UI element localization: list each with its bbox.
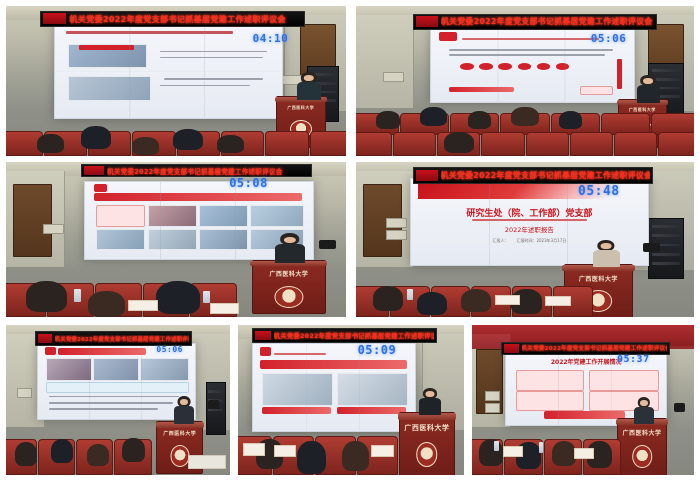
slide-emblem-icon [45, 347, 57, 355]
name-card [495, 295, 521, 305]
audience-member [15, 442, 37, 466]
led-banner-text: 机关党委2022年度党支部书记抓基层党建工作述职评议会 [274, 331, 434, 340]
slide-photo [250, 205, 303, 227]
slide-title-underline [472, 219, 588, 221]
water-bottle [539, 442, 543, 453]
podium-university-name: 广西医科大学 [402, 423, 452, 433]
slide-body-line [49, 396, 179, 398]
slide-side-bar [617, 59, 623, 89]
audience-member [122, 438, 144, 462]
water-bottle [74, 289, 81, 301]
countdown-timer: 05:09 [358, 343, 397, 357]
countdown-timer: 04:10 [253, 32, 289, 45]
audience-member [87, 444, 109, 467]
name-card [371, 445, 393, 458]
party-emblem-icon [416, 170, 437, 181]
audience-member [420, 107, 447, 127]
audience-seat [614, 132, 657, 156]
audience-member [26, 281, 67, 312]
wall-vent [17, 388, 31, 398]
wall-vent [386, 230, 407, 240]
speaker [634, 397, 654, 424]
camera-icon [208, 400, 219, 409]
audience-member [511, 107, 538, 127]
name-card [210, 303, 239, 314]
photo-panel-bottom-right: 2022年党建工作开展情况 机关党委2022年度党支部书记抓基层党建工作述职评议… [472, 325, 694, 475]
slide-body-line [160, 51, 267, 53]
speaker-face [601, 243, 612, 249]
projection-screen [54, 24, 284, 119]
party-emblem-icon [416, 16, 437, 27]
university-emblem-icon [170, 445, 189, 466]
wall-vent [386, 218, 407, 228]
slide-text-block [96, 205, 145, 227]
audience-member [552, 441, 576, 467]
podium-university-name: 广西医科大学 [256, 269, 322, 278]
led-banner: 机关党委2022年度党支部书记抓基层党建工作述职评议会 [81, 164, 312, 178]
name-card [243, 443, 265, 456]
name-card [574, 448, 594, 459]
slide-icon-row [479, 63, 492, 70]
speaker [275, 233, 306, 262]
name-card [503, 446, 523, 457]
audience-member [468, 111, 492, 129]
slide-title: 研究生处（院、工作部）党支部 [425, 206, 634, 219]
speaker-body [593, 250, 620, 268]
countdown-timer: 05:06 [591, 32, 627, 45]
party-emblem-icon [38, 334, 52, 344]
slide-footer-bar [449, 87, 514, 92]
countdown-timer: 05:37 [617, 354, 650, 365]
countdown-timer: 05:08 [229, 176, 268, 190]
photo-collage: 机关党委2022年度党支部书记抓基层党建工作述职评议会 04:10 广西医科大学 [0, 0, 700, 481]
slide-icon-row [498, 63, 511, 70]
speaker [637, 75, 661, 104]
party-emblem-icon [255, 331, 271, 341]
slide-heading-underline [274, 353, 326, 355]
led-banner: 机关党委2022年度党支部书记抓基层党建工作述职评议会 [413, 14, 656, 31]
slide-body-line [49, 408, 158, 410]
slide-icon-row [537, 63, 550, 70]
camera-icon [319, 240, 336, 249]
water-bottle [203, 291, 210, 303]
slide-photo [148, 205, 197, 227]
slide-body-line [164, 78, 263, 80]
audience-member [297, 441, 326, 474]
slide-grid-cell-footer [544, 411, 625, 418]
audience-seat [570, 132, 613, 156]
podium: 广西医科大学 [399, 412, 455, 475]
slide-grid-cell [516, 391, 584, 411]
slide-photo [148, 229, 197, 250]
camera-icon [674, 403, 685, 412]
speaker-face [426, 391, 435, 397]
podium-university-name: 广西医科大学 [159, 430, 200, 437]
desk-surface [188, 455, 226, 469]
speaker-body [297, 82, 321, 101]
led-banner: 机关党委2022年度党支部书记抓基层党建工作述职评议会 [413, 167, 653, 184]
slide-photo [96, 229, 145, 250]
slide-emblem-icon [439, 32, 456, 41]
slide-text-panel [46, 382, 189, 394]
audience-member [37, 134, 64, 154]
slide-content [43, 346, 190, 417]
audience-seat [265, 131, 308, 157]
speaker [593, 240, 620, 268]
audience-member [156, 281, 200, 314]
audience-seat [481, 132, 524, 156]
speaker-body [634, 407, 654, 424]
slide-content [61, 28, 275, 115]
led-banner: 机关党委2022年度党支部书记抓基层党建工作述职评议会 [40, 11, 305, 28]
slide-emblem-icon [260, 347, 271, 356]
led-banner-text: 机关党委2022年度党支部书记抓基层党建工作述职评议会 [522, 344, 667, 352]
countdown-timer: 05:06 [156, 345, 183, 354]
slide-icon-row [556, 63, 569, 70]
speaker-face [643, 78, 653, 84]
speaker-body [275, 244, 306, 263]
slide-body-line [449, 49, 613, 51]
slide-icon-row [460, 63, 473, 70]
slide-photo [93, 358, 139, 381]
slide-photo-right [337, 373, 408, 406]
party-emblem-icon [84, 166, 104, 175]
audience-member [88, 291, 125, 317]
audience-member [81, 126, 112, 149]
wall-vent [485, 391, 499, 401]
projection-screen [37, 343, 196, 420]
slide-content [257, 347, 410, 429]
wall-vent [383, 72, 404, 82]
audience-member [479, 439, 503, 466]
audience-seat [526, 132, 569, 156]
party-emblem-icon [504, 344, 519, 353]
slide-body-line [49, 402, 173, 404]
audience-seat [393, 132, 436, 156]
slide-heading-underline [462, 38, 599, 40]
led-banner-text: 机关党委2022年度党支部书记抓基层党建工作述职评议会 [107, 166, 309, 176]
slide-body-line [160, 85, 250, 87]
university-emblem-icon [632, 445, 652, 468]
photo-panel-top-left: 机关党委2022年度党支部书记抓基层党建工作述职评议会 04:10 广西医科大学 [6, 6, 346, 156]
slide-body-line [449, 54, 605, 56]
audience-seat [310, 131, 347, 157]
photo-panel-top-right: 机关党委2022年度党支部书记抓基层党建工作述职评议会 05:06 广西医科大学 [356, 6, 694, 156]
slide-heading-banner [94, 193, 302, 201]
party-emblem-icon [43, 13, 66, 24]
water-bottle [407, 289, 414, 300]
slide-photo [199, 229, 248, 250]
wall-panel-left [356, 15, 414, 108]
audience-member [376, 111, 400, 129]
name-card [545, 296, 571, 306]
podium: 广西医科大学 [252, 260, 325, 315]
slide-subtitle: 2022年述职报告 [432, 224, 628, 234]
slide-photo [46, 358, 92, 381]
speaker-body [637, 85, 661, 104]
slide-photo [140, 358, 189, 381]
water-bottle [494, 441, 498, 452]
speaker [419, 388, 442, 415]
slide-emblem-icon [94, 184, 107, 192]
speaker-body [174, 406, 194, 424]
university-emblem-icon [274, 286, 303, 308]
led-banner-text: 机关党委2022年度党支部书记抓基层党建工作述职评议会 [55, 335, 189, 343]
speaker [297, 72, 321, 101]
podium-university-name: 广西医科大学 [620, 428, 665, 437]
audience-member [373, 286, 403, 311]
slide-photo-left [262, 373, 333, 406]
podium-university-name: 广西医科大学 [567, 274, 629, 283]
photo-panel-middle-left: 机关党委2022年度党支部书记抓基层党建工作述职评议会 05:08 广西医科大学 [6, 162, 346, 317]
audience-member [217, 135, 244, 153]
wall-vent [485, 403, 499, 413]
podium-university-name: 广西医科大学 [279, 105, 323, 111]
audience-member [417, 292, 447, 315]
university-emblem-icon [416, 442, 438, 467]
speaker-face [640, 400, 648, 406]
slide-grid-cell [589, 370, 659, 391]
slide-body-line [160, 57, 263, 59]
audience-member [461, 289, 491, 312]
camera-icon [643, 243, 660, 252]
slide-grid-cell [516, 370, 584, 391]
slide-heading-banner [58, 348, 146, 355]
podium: 广西医科大学 [617, 418, 668, 475]
wooden-door [13, 184, 52, 257]
audience-member [444, 132, 474, 153]
photo-panel-bottom-middle: 机关党委2022年度党支部书记抓基层党建工作述职评议会 05:09 广西医科大学 [238, 325, 464, 475]
slide-footer-box [580, 86, 613, 95]
countdown-timer: 05:48 [578, 184, 620, 199]
audience-seat [356, 132, 392, 156]
slide-icon-row [518, 63, 531, 70]
led-banner-text: 机关党委2022年度党支部书记抓基层党建工作述职评议会 [441, 170, 651, 181]
slide-subheading-banner [260, 360, 407, 369]
photo-panel-bottom-left: 机关党委2022年度党支部书记抓基层党建工作述职评议会 05:06 广西医科大学 [6, 325, 230, 475]
led-banner-text: 机关党委2022年度党支部书记抓基层党建工作述职评议会 [441, 16, 654, 27]
audience-seat-row [356, 132, 694, 156]
speaker [174, 396, 194, 425]
audience-seat [658, 132, 694, 156]
audience-member [342, 441, 369, 471]
led-banner-text: 机关党委2022年度党支部书记抓基层党建工作述职评议会 [69, 13, 302, 25]
slide-photo [199, 205, 248, 227]
wall-vent [43, 224, 64, 234]
audience-member [132, 137, 159, 155]
audience-member [173, 129, 204, 150]
photo-panel-middle-right: 研究生处（院、工作部）党支部 2022年述职报告 汇报人： 汇报时间：2023年… [356, 162, 694, 317]
audience-member [51, 439, 73, 463]
speaker-body [419, 398, 442, 415]
led-banner: 机关党委2022年度党支部书记抓基层党建工作述职评议会 [252, 328, 437, 343]
slide-photo-2 [68, 76, 151, 101]
slide-photo-1-caption [79, 45, 135, 49]
audience-member [559, 111, 583, 129]
slide-heading-text [66, 31, 233, 34]
name-card [128, 300, 157, 311]
slide-caption-right [337, 407, 406, 414]
slide-caption-left [262, 407, 331, 414]
name-card [274, 445, 296, 458]
